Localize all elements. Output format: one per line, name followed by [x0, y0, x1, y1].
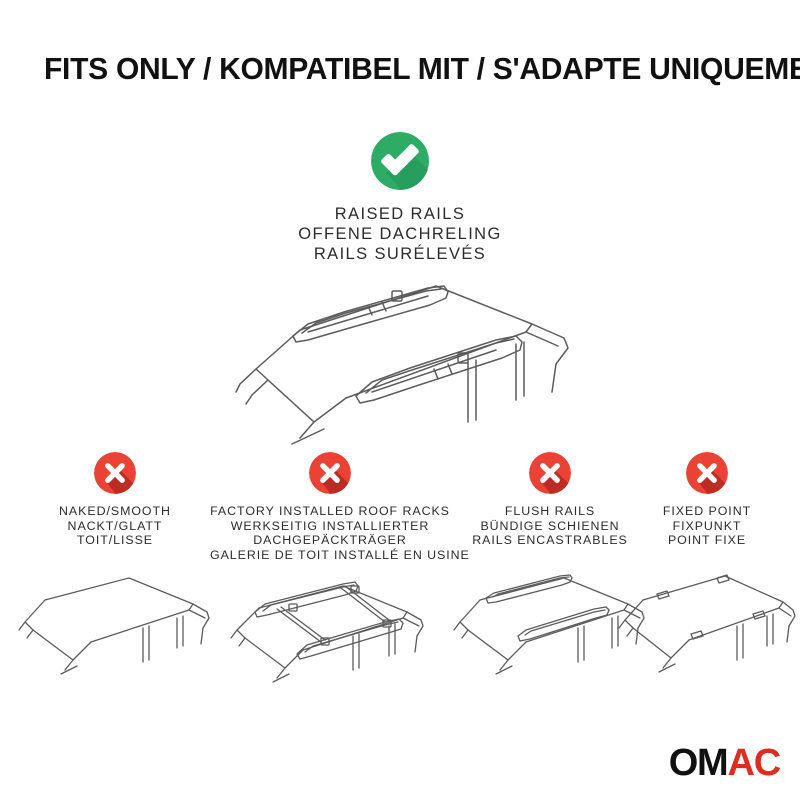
compatible-line-de: OFFENE DACHRELING [0, 224, 800, 244]
cross-circle-icon [529, 452, 571, 494]
page-title: FITS ONLY / KOMPATIBEL MIT / S'ADAPTE UN… [44, 52, 763, 87]
cross-circle-icon [94, 452, 136, 494]
incompatible-item-flush-rails: FLUSH RAILS BÜNDIGE SCHIENEN RAILS ENCAS… [442, 452, 658, 548]
naked-line-fr: TOIT/LISSE [5, 533, 225, 548]
logo-text-dark: OM [669, 742, 728, 784]
incompatible-caption-factory-racks: FACTORY INSTALLED ROOF RACKS WERKSEITIG … [210, 504, 450, 562]
infographic-page: FITS ONLY / KOMPATIBEL MIT / S'ADAPTE UN… [0, 0, 800, 800]
fixed-line-fr: POINT FIXE [627, 533, 787, 548]
incompatible-caption-fixed-point: FIXED POINT FIXPUNKT POINT FIXE [627, 504, 787, 548]
incompatible-item-naked: NAKED/SMOOTH NACKT/GLATT TOIT/LISSE [5, 452, 225, 548]
incompatible-item-factory-racks: FACTORY INSTALLED ROOF RACKS WERKSEITIG … [210, 452, 450, 562]
incompatible-caption-naked: NAKED/SMOOTH NACKT/GLATT TOIT/LISSE [5, 504, 225, 548]
omac-logo: OMAC [669, 744, 780, 782]
car-roof-raised-rails-illustration [196, 272, 606, 457]
factory-line-de-1: WERKSEITIG INSTALLIERTER [210, 519, 450, 534]
logo-text-red: AC [728, 742, 781, 784]
flush-line-fr: RAILS ENCASTRABLES [442, 533, 658, 548]
cross-circle-icon [309, 452, 351, 494]
compatible-section: RAISED RAILS OFFENE DACHRELING RAILS SUR… [0, 132, 800, 264]
car-roof-factory-racks-illustration [225, 564, 435, 686]
car-roof-fixed-point-illustration [617, 556, 797, 678]
incompatible-item-fixed-point: FIXED POINT FIXPUNKT POINT FIXE [627, 452, 787, 548]
fixed-line-en: FIXED POINT [627, 504, 787, 519]
factory-line-fr: GALERIE DE TOIT INSTALLÉ EN USINE [210, 548, 450, 563]
flush-line-de: BÜNDIGE SCHIENEN [442, 519, 658, 534]
incompatible-section: NAKED/SMOOTH NACKT/GLATT TOIT/LISSE [0, 452, 800, 712]
car-roof-naked-illustration [17, 560, 213, 680]
fixed-line-de: FIXPUNKT [627, 519, 787, 534]
incompatible-caption-flush-rails: FLUSH RAILS BÜNDIGE SCHIENEN RAILS ENCAS… [442, 504, 658, 548]
factory-line-en: FACTORY INSTALLED ROOF RACKS [210, 504, 450, 519]
factory-line-de-2: DACHGEPÄCKTRÄGER [210, 533, 450, 548]
compatible-caption: RAISED RAILS OFFENE DACHRELING RAILS SUR… [0, 204, 800, 264]
check-circle-icon [371, 132, 429, 190]
compatible-line-en: RAISED RAILS [0, 204, 800, 224]
naked-line-de: NACKT/GLATT [5, 519, 225, 534]
compatible-line-fr: RAILS SURÉLEVÉS [0, 244, 800, 264]
flush-line-en: FLUSH RAILS [442, 504, 658, 519]
cross-circle-icon [686, 452, 728, 494]
naked-line-en: NAKED/SMOOTH [5, 504, 225, 519]
